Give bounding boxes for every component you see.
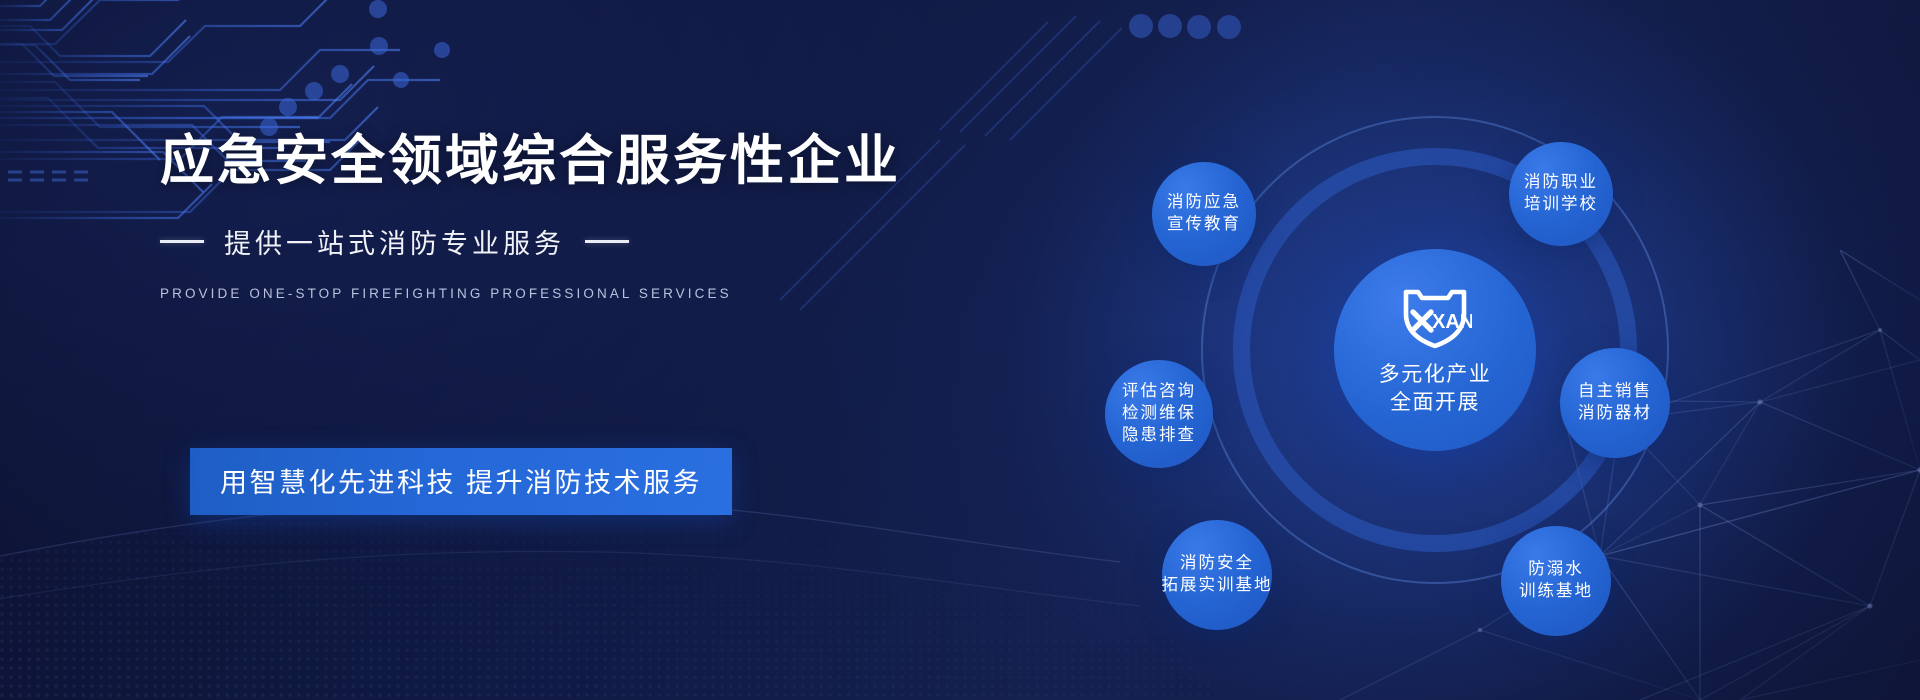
cta-label: 用智慧化先进科技 提升消防技术服务: [220, 468, 702, 498]
wave-crest-line-2: [0, 551, 1140, 606]
node-line-1: 评估咨询: [1122, 381, 1196, 403]
node-line-1: 消防职业: [1524, 172, 1598, 194]
service-node-bottom-left[interactable]: 消防安全 拓展实训基地: [1162, 520, 1272, 630]
node-line-1: 消防应急: [1167, 192, 1241, 214]
dash-left-icon: [160, 240, 204, 243]
node-line-2: 训练基地: [1519, 581, 1593, 603]
service-node-right[interactable]: 自主销售 消防器材: [1560, 348, 1670, 458]
node-line-2: 宣传教育: [1167, 214, 1241, 236]
hero-banner: 应急安全领域综合服务性企业 提供一站式消防专业服务 PROVIDE ONE-ST…: [0, 0, 1920, 700]
service-node-top-left[interactable]: 消防应急 宣传教育: [1152, 162, 1256, 266]
subtitle-en: PROVIDE ONE-STOP FIREFIGHTING PROFESSION…: [160, 286, 920, 301]
node-line-2: 培训学校: [1524, 194, 1598, 216]
diagram-center-node[interactable]: XAN 多元化产业 全面开展: [1334, 249, 1536, 451]
center-line-2: 全面开展: [1390, 389, 1480, 417]
node-line-2: 消防器材: [1578, 403, 1652, 425]
center-line-1: 多元化产业: [1379, 361, 1492, 389]
node-line-1: 自主销售: [1578, 381, 1652, 403]
subtitle-cn: 提供一站式消防专业服务: [224, 222, 565, 261]
node-line-1: 消防安全: [1180, 553, 1254, 575]
cta-banner[interactable]: 用智慧化先进科技 提升消防技术服务: [190, 448, 732, 515]
service-node-left[interactable]: 评估咨询 检测维保 隐患排查: [1105, 360, 1213, 468]
logo-text: XAN: [1432, 311, 1472, 333]
dash-right-icon: [585, 240, 629, 243]
service-node-top-right[interactable]: 消防职业 培训学校: [1509, 142, 1613, 246]
circuit-dashes-icon: [8, 172, 88, 180]
hero-text-block: 应急安全领域综合服务性企业 提供一站式消防专业服务 PROVIDE ONE-ST…: [160, 130, 920, 301]
node-line-2: 拓展实训基地: [1162, 575, 1273, 597]
circuit-nodes-icon: [260, 0, 450, 136]
page-title: 应急安全领域综合服务性企业: [160, 130, 920, 194]
node-line-1: 防溺水: [1528, 559, 1584, 581]
node-line-3: 隐患排查: [1122, 425, 1196, 447]
diagonal-trace-dots-icon: [1129, 14, 1241, 39]
subtitle-row: 提供一站式消防专业服务: [160, 222, 920, 261]
service-node-bottom-right[interactable]: 防溺水 训练基地: [1501, 526, 1611, 636]
node-line-2: 检测维保: [1122, 403, 1196, 425]
services-diagram: XAN 多元化产业 全面开展 消防应急 宣传教育 消防职业 培训学校 评估咨询 …: [1105, 60, 1765, 640]
shield-icon: XAN: [1398, 284, 1472, 350]
